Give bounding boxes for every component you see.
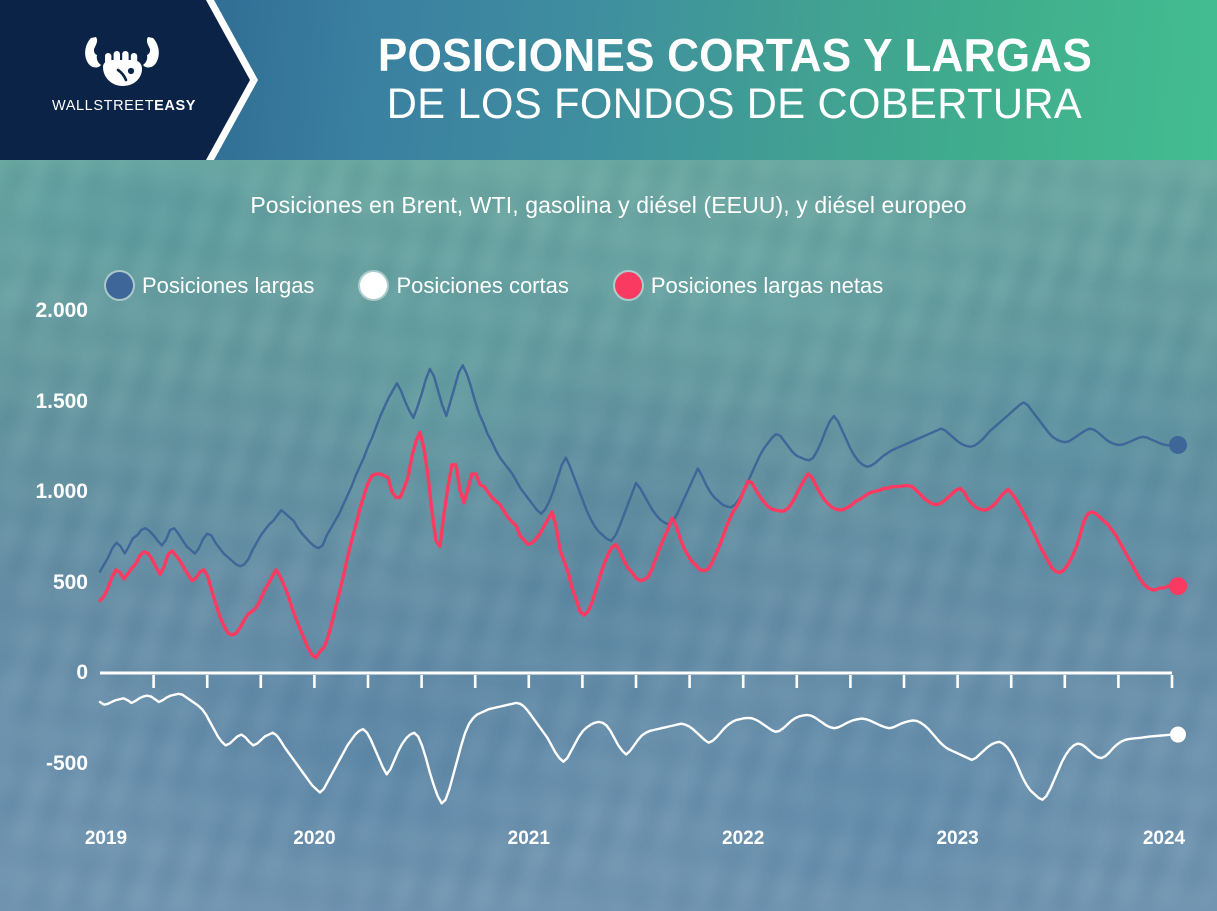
chart-plot-area: 2.0001.5001.0005000-500 2019202020212022… — [0, 0, 1217, 911]
infographic-page: WALLSTREETEASY POSICIONES CORTAS Y LARGA… — [0, 0, 1217, 911]
x-tick-2020: 2020 — [293, 828, 335, 850]
x-tick-2024: 2024 — [1143, 828, 1185, 850]
x-tick-2022: 2022 — [722, 828, 764, 850]
x-tick-2023: 2023 — [936, 828, 978, 850]
x-tick-2021: 2021 — [508, 828, 550, 850]
x-tick-2019: 2019 — [85, 828, 127, 850]
x-axis-tick-labels: 201920202021202220232024 — [0, 0, 1217, 911]
